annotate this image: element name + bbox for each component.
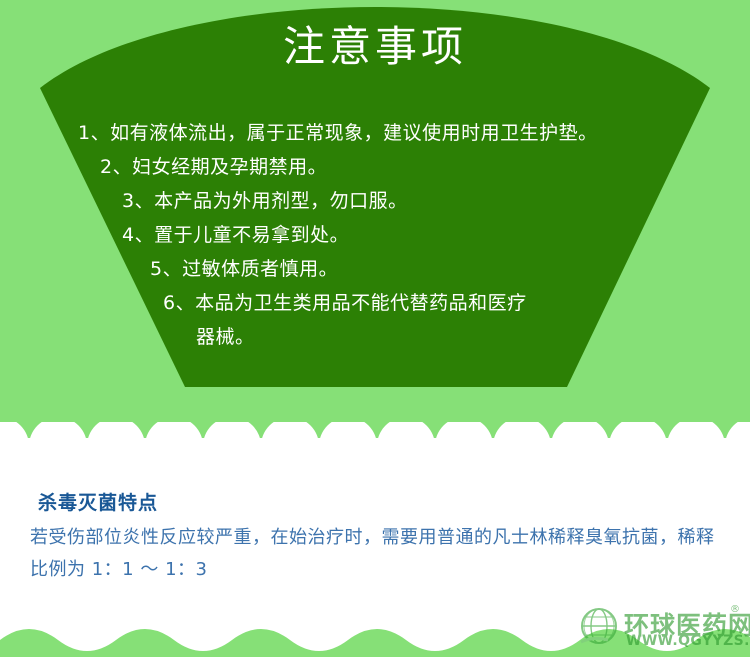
product-detail-page: 注意事项 1、如有液体流出，属于正常现象，建议使用时用卫生护垫。 2、妇女经期及… — [0, 0, 750, 657]
notice-item-6: 6、本品为卫生类用品不能代替药品和医疗 — [0, 286, 750, 320]
notice-item-5: 5、过敏体质者慎用。 — [0, 252, 750, 286]
scallop-divider — [0, 422, 750, 438]
feature-body: 若受伤部位炎性反应较严重，在始治疗时，需要用普通的凡士林稀释臭氧抗菌，稀释比例为… — [30, 522, 730, 586]
notice-item-1: 1、如有液体流出，属于正常现象，建议使用时用卫生护垫。 — [0, 116, 750, 150]
registered-mark-icon: ® — [730, 604, 740, 615]
notice-item-4: 4、置于儿童不易拿到处。 — [0, 218, 750, 252]
notice-item-2: 2、妇女经期及孕期禁用。 — [0, 150, 750, 184]
notice-item-3: 3、本产品为外用剂型，勿口服。 — [0, 184, 750, 218]
page-title: 注意事项 — [0, 22, 750, 72]
watermark: 环球医药网 ® WWW.QGYYZS.NET — [578, 604, 744, 652]
globe-icon — [578, 606, 622, 650]
notice-item-6-cont: 器械。 — [0, 320, 750, 354]
notice-panel: 注意事项 1、如有液体流出，属于正常现象，建议使用时用卫生护垫。 2、妇女经期及… — [0, 0, 750, 438]
watermark-url: WWW.QGYYZS.NET — [626, 633, 750, 649]
feature-heading: 杀毒灭菌特点 — [38, 488, 158, 515]
notice-list: 1、如有液体流出，属于正常现象，建议使用时用卫生护垫。 2、妇女经期及孕期禁用。… — [0, 116, 750, 354]
